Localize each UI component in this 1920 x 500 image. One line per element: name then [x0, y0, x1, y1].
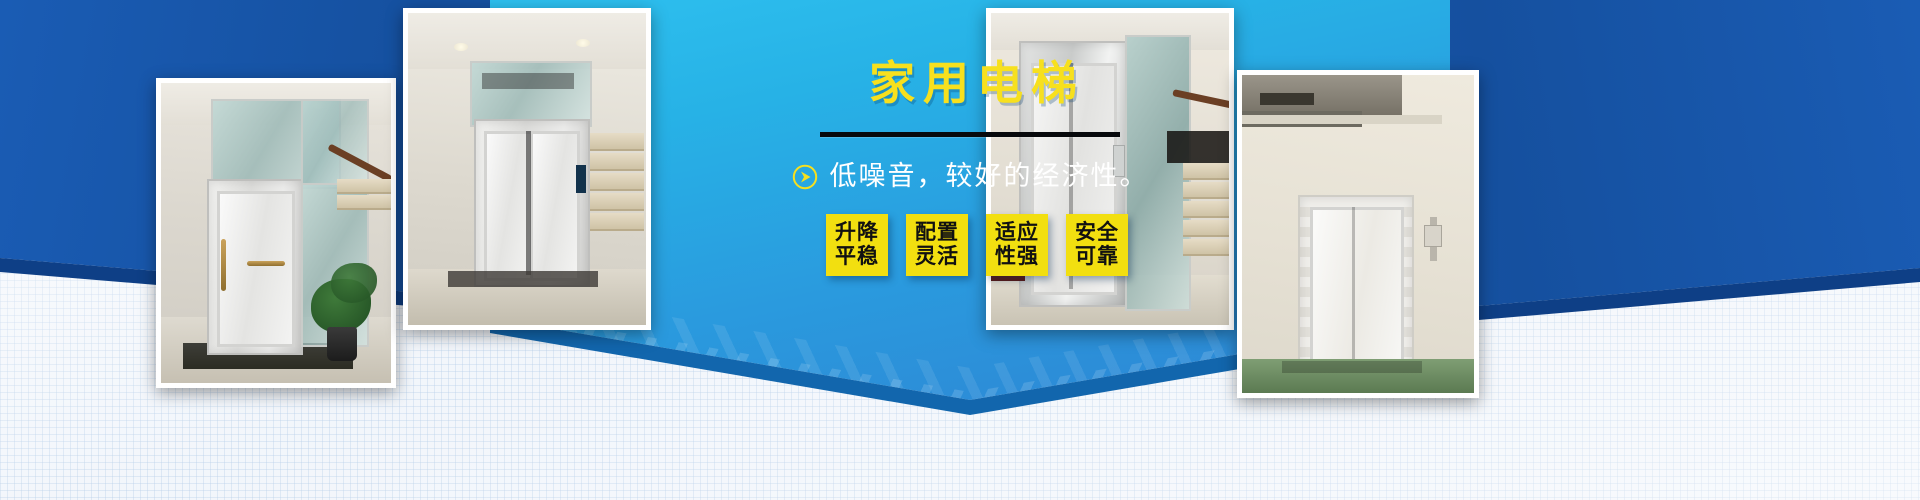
feature-badge[interactable]: 适应 性强: [986, 214, 1048, 276]
page-title: 家用电梯: [650, 60, 1290, 106]
feature-badge-line2: 性强: [995, 245, 1039, 269]
feature-badge-line2: 灵活: [915, 245, 959, 269]
feature-badge-line1: 安全: [1075, 221, 1119, 245]
feature-badge[interactable]: 配置 灵活: [906, 214, 968, 276]
photo-home-elevator-glass-cabin-with-plant[interactable]: [156, 78, 396, 388]
subtitle-row: 低噪音，较好的经济性。: [650, 163, 1290, 190]
home-elevator-banner: 家用电梯 低噪音，较好的经济性。 升降 平稳 配置 灵活 适应 性强: [0, 0, 1920, 500]
photo-home-elevator-lobby-with-stairs[interactable]: [403, 8, 651, 330]
circled-right-arrow-icon: [792, 164, 818, 190]
banner-subtitle: 低噪音，较好的经济性。: [830, 163, 1149, 190]
feature-badge[interactable]: 安全 可靠: [1066, 214, 1128, 276]
feature-badge-line1: 适应: [995, 221, 1039, 245]
feature-badge-line2: 可靠: [1075, 245, 1119, 269]
title-divider: [820, 132, 1120, 137]
feature-badge-list: 升降 平稳 配置 灵活 适应 性强 安全 可靠: [650, 214, 1290, 276]
feature-badge[interactable]: 升降 平稳: [826, 214, 888, 276]
feature-badge-line2: 平稳: [835, 245, 879, 269]
feature-badge-line1: 配置: [915, 221, 959, 245]
banner-content: 家用电梯 低噪音，较好的经济性。 升降 平稳 配置 灵活 适应 性强: [650, 60, 1290, 276]
feature-badge-line1: 升降: [835, 221, 879, 245]
